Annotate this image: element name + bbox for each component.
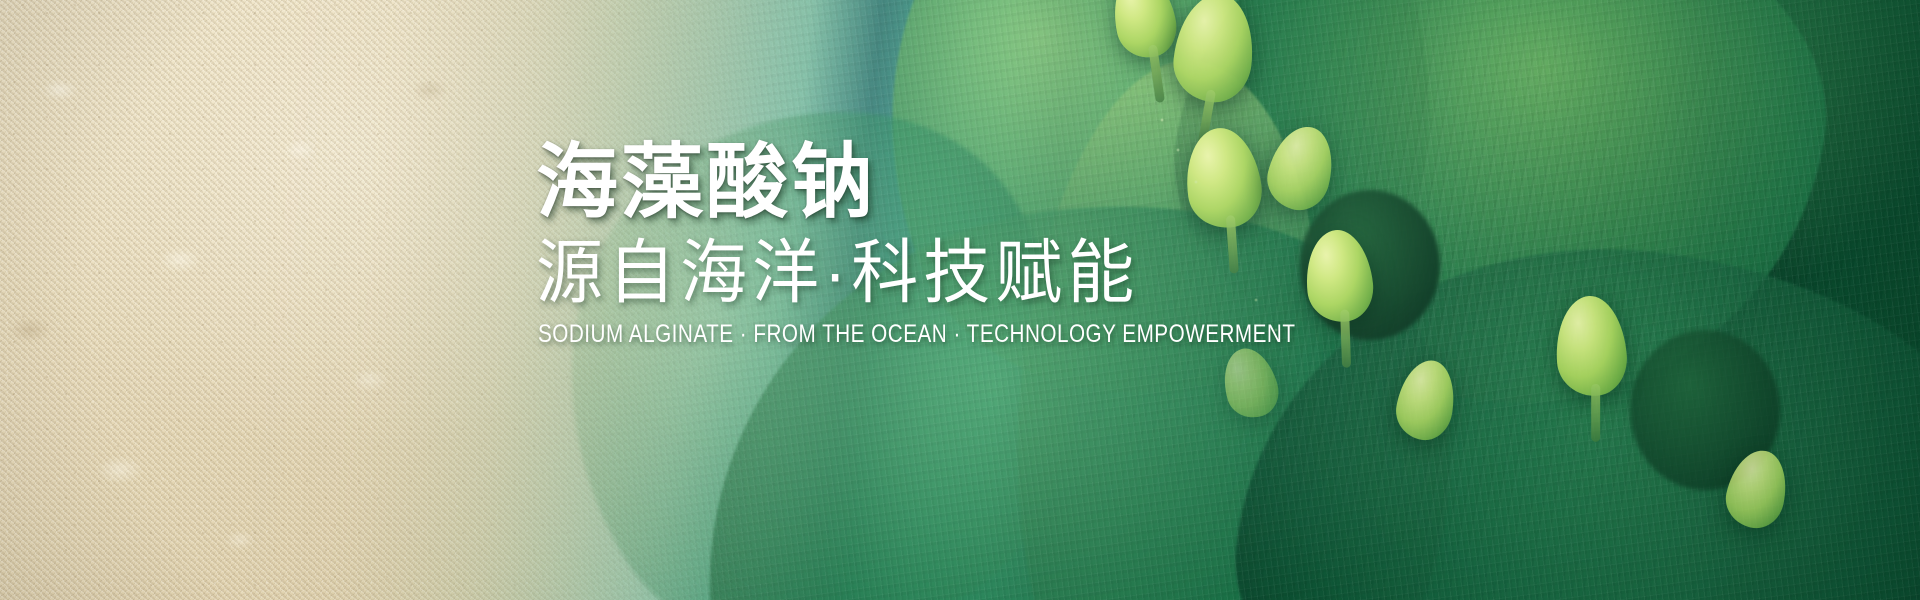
banner-subheadline: 源自海洋·科技赋能	[536, 234, 1636, 312]
banner-headline: 海藻酸钠	[536, 140, 1636, 226]
hero-banner: 海藻酸钠 源自海洋·科技赋能 SODIUM ALGINATE · FROM TH…	[0, 0, 1920, 600]
banner-english-tagline: SODIUM ALGINATE · FROM THE OCEAN · TECHN…	[538, 321, 1620, 349]
banner-text-block: 海藻酸钠 源自海洋·科技赋能 SODIUM ALGINATE · FROM TH…	[536, 140, 1636, 345]
